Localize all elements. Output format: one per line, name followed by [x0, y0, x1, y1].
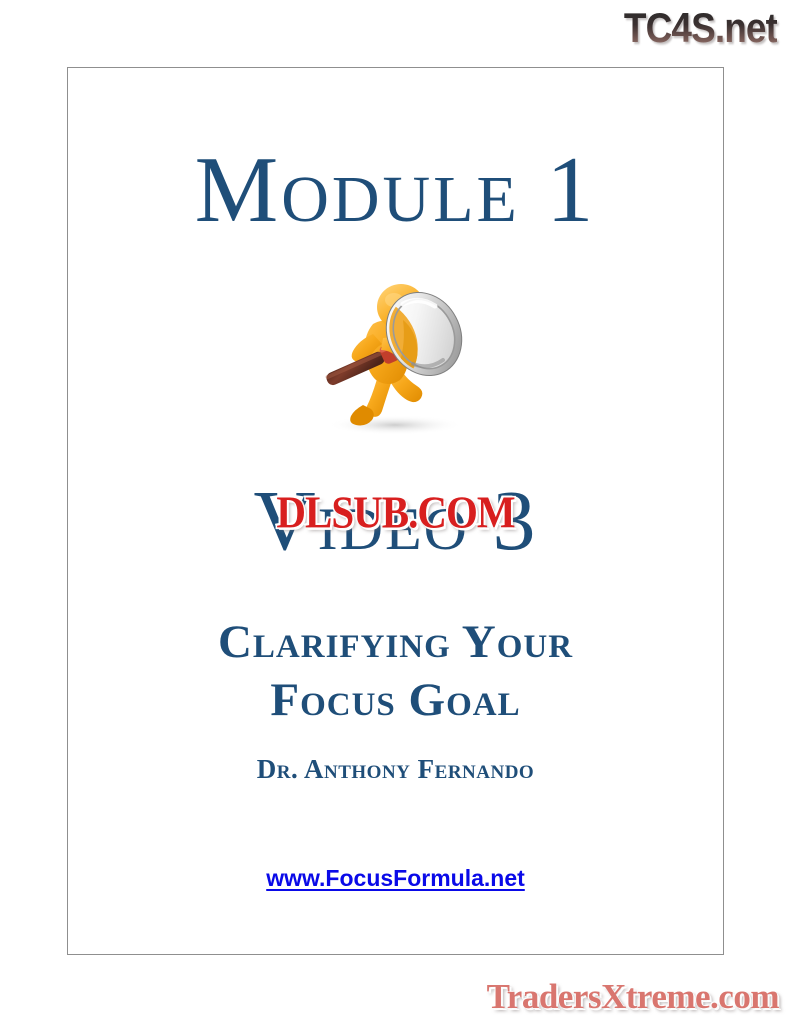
author-name: Dr. Anthony Fernando: [68, 753, 723, 785]
tradersxtreme-watermark: TradersXtreme.com: [487, 978, 779, 1016]
hero-illustration: [68, 273, 723, 438]
site-link-wrapper: www.FocusFormula.net: [68, 864, 723, 892]
module-title: Module 1: [68, 140, 723, 240]
subtitle-line-1: Clarifying Your: [68, 613, 723, 671]
tc4s-watermark: TC4S.net: [624, 6, 777, 50]
screenshot-root: TC4S.net Module 1: [0, 0, 791, 1024]
video-title-block: Video 3 DLSUB.COM: [68, 468, 723, 588]
document-page: Module 1: [67, 67, 724, 955]
person-with-magnifying-glass-icon: [291, 276, 501, 436]
site-link[interactable]: www.FocusFormula.net: [266, 865, 525, 891]
video-title: Video 3: [68, 468, 723, 572]
subtitle: Clarifying Your Focus Goal: [68, 613, 723, 729]
document-page-content: Module 1: [68, 68, 723, 954]
subtitle-line-2: Focus Goal: [68, 671, 723, 729]
